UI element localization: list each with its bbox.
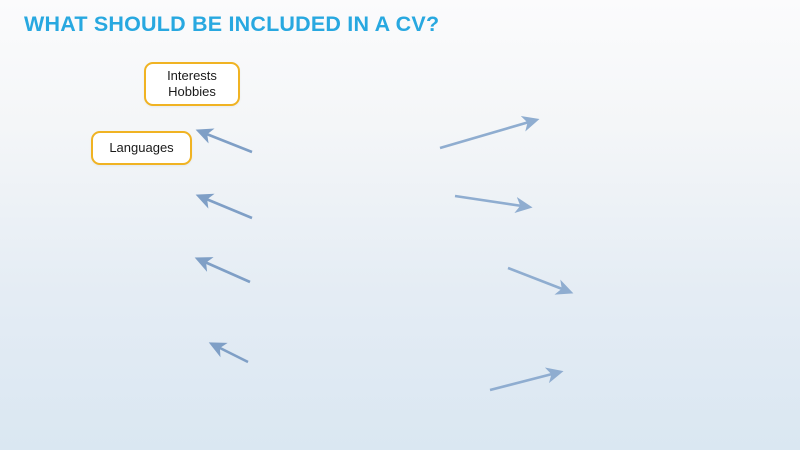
arrow-to-statement — [455, 196, 529, 207]
callout-interests-hobbies[interactable]: Interests Hobbies — [144, 62, 240, 106]
arrow-to-work — [508, 268, 570, 292]
callout-line: Languages — [109, 140, 173, 156]
arrow-to-languages — [199, 196, 252, 218]
callout-line: Interests — [167, 68, 217, 84]
arrow-layer — [0, 0, 800, 450]
page-title: WHAT SHOULD BE INCLUDED IN A CV? — [24, 12, 439, 37]
slide-canvas: WHAT SHOULD BE INCLUDED IN A CV? — [0, 0, 800, 450]
arrow-to-education — [198, 259, 250, 282]
arrow-to-contact — [440, 120, 536, 148]
arrow-to-skills — [490, 372, 560, 390]
arrow-to-interests — [199, 131, 252, 152]
arrow-to-references — [212, 344, 248, 362]
callout-line: Hobbies — [168, 84, 216, 100]
callout-languages[interactable]: Languages — [91, 131, 192, 165]
